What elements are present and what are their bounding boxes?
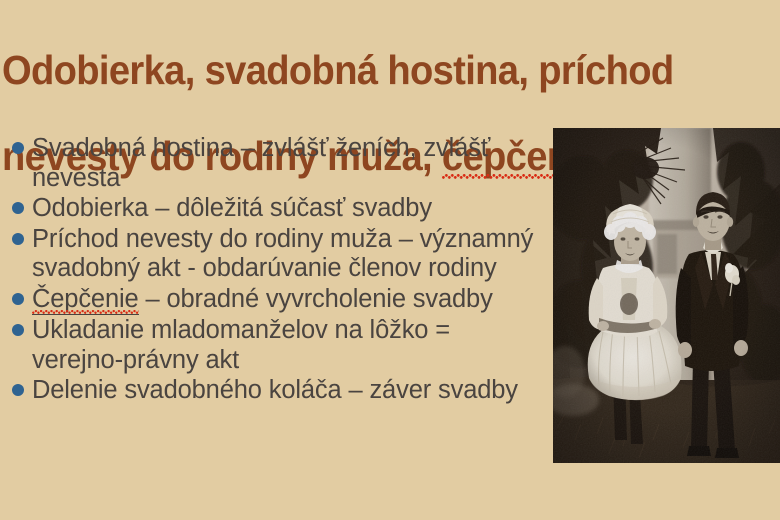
list-item-text: Svadobná hostina – zvlášť ženích, zvlášť… — [32, 134, 540, 193]
title-line-1: Odobierka, svadobná hostina, príchod — [2, 49, 724, 92]
list-item: Príchod nevesty do rodiny muža – významn… — [0, 225, 540, 284]
list-item-text: Delenie svadobného koláča – záver svadby — [32, 376, 540, 406]
list-item-misspelled-word: Čepčenie — [32, 285, 139, 316]
list-item-text: Ukladanie mladomanželov na lôžko = verej… — [32, 316, 540, 375]
bullet-dot-icon — [12, 293, 24, 305]
list-item: Čepčenie – obradné vyvrcholenie svadby — [0, 285, 540, 316]
photograph-image — [553, 128, 780, 463]
bullet-list: Svadobná hostina – zvlášť ženích, zvlášť… — [0, 134, 540, 407]
list-item: Svadobná hostina – zvlášť ženích, zvlášť… — [0, 134, 540, 193]
presentation-slide: Odobierka, svadobná hostina, príchod nev… — [0, 0, 780, 520]
bullet-dot-icon — [12, 142, 24, 154]
list-item: Odobierka – dôležitá súčasť svadby — [0, 194, 540, 224]
list-item-text-rest: – obradné vyvrcholenie svadby — [139, 285, 493, 313]
list-item: Ukladanie mladomanželov na lôžko = verej… — [0, 316, 540, 375]
list-item-text: Príchod nevesty do rodiny muža – významn… — [32, 225, 540, 284]
wedding-photograph — [553, 128, 780, 463]
list-item: Delenie svadobného koláča – záver svadby — [0, 376, 540, 406]
list-item-text: Odobierka – dôležitá súčasť svadby — [32, 194, 540, 224]
bullet-dot-icon — [12, 324, 24, 336]
bullet-dot-icon — [12, 384, 24, 396]
list-item-text: Čepčenie – obradné vyvrcholenie svadby — [32, 285, 540, 316]
bullet-dot-icon — [12, 202, 24, 214]
bullet-dot-icon — [12, 233, 24, 245]
